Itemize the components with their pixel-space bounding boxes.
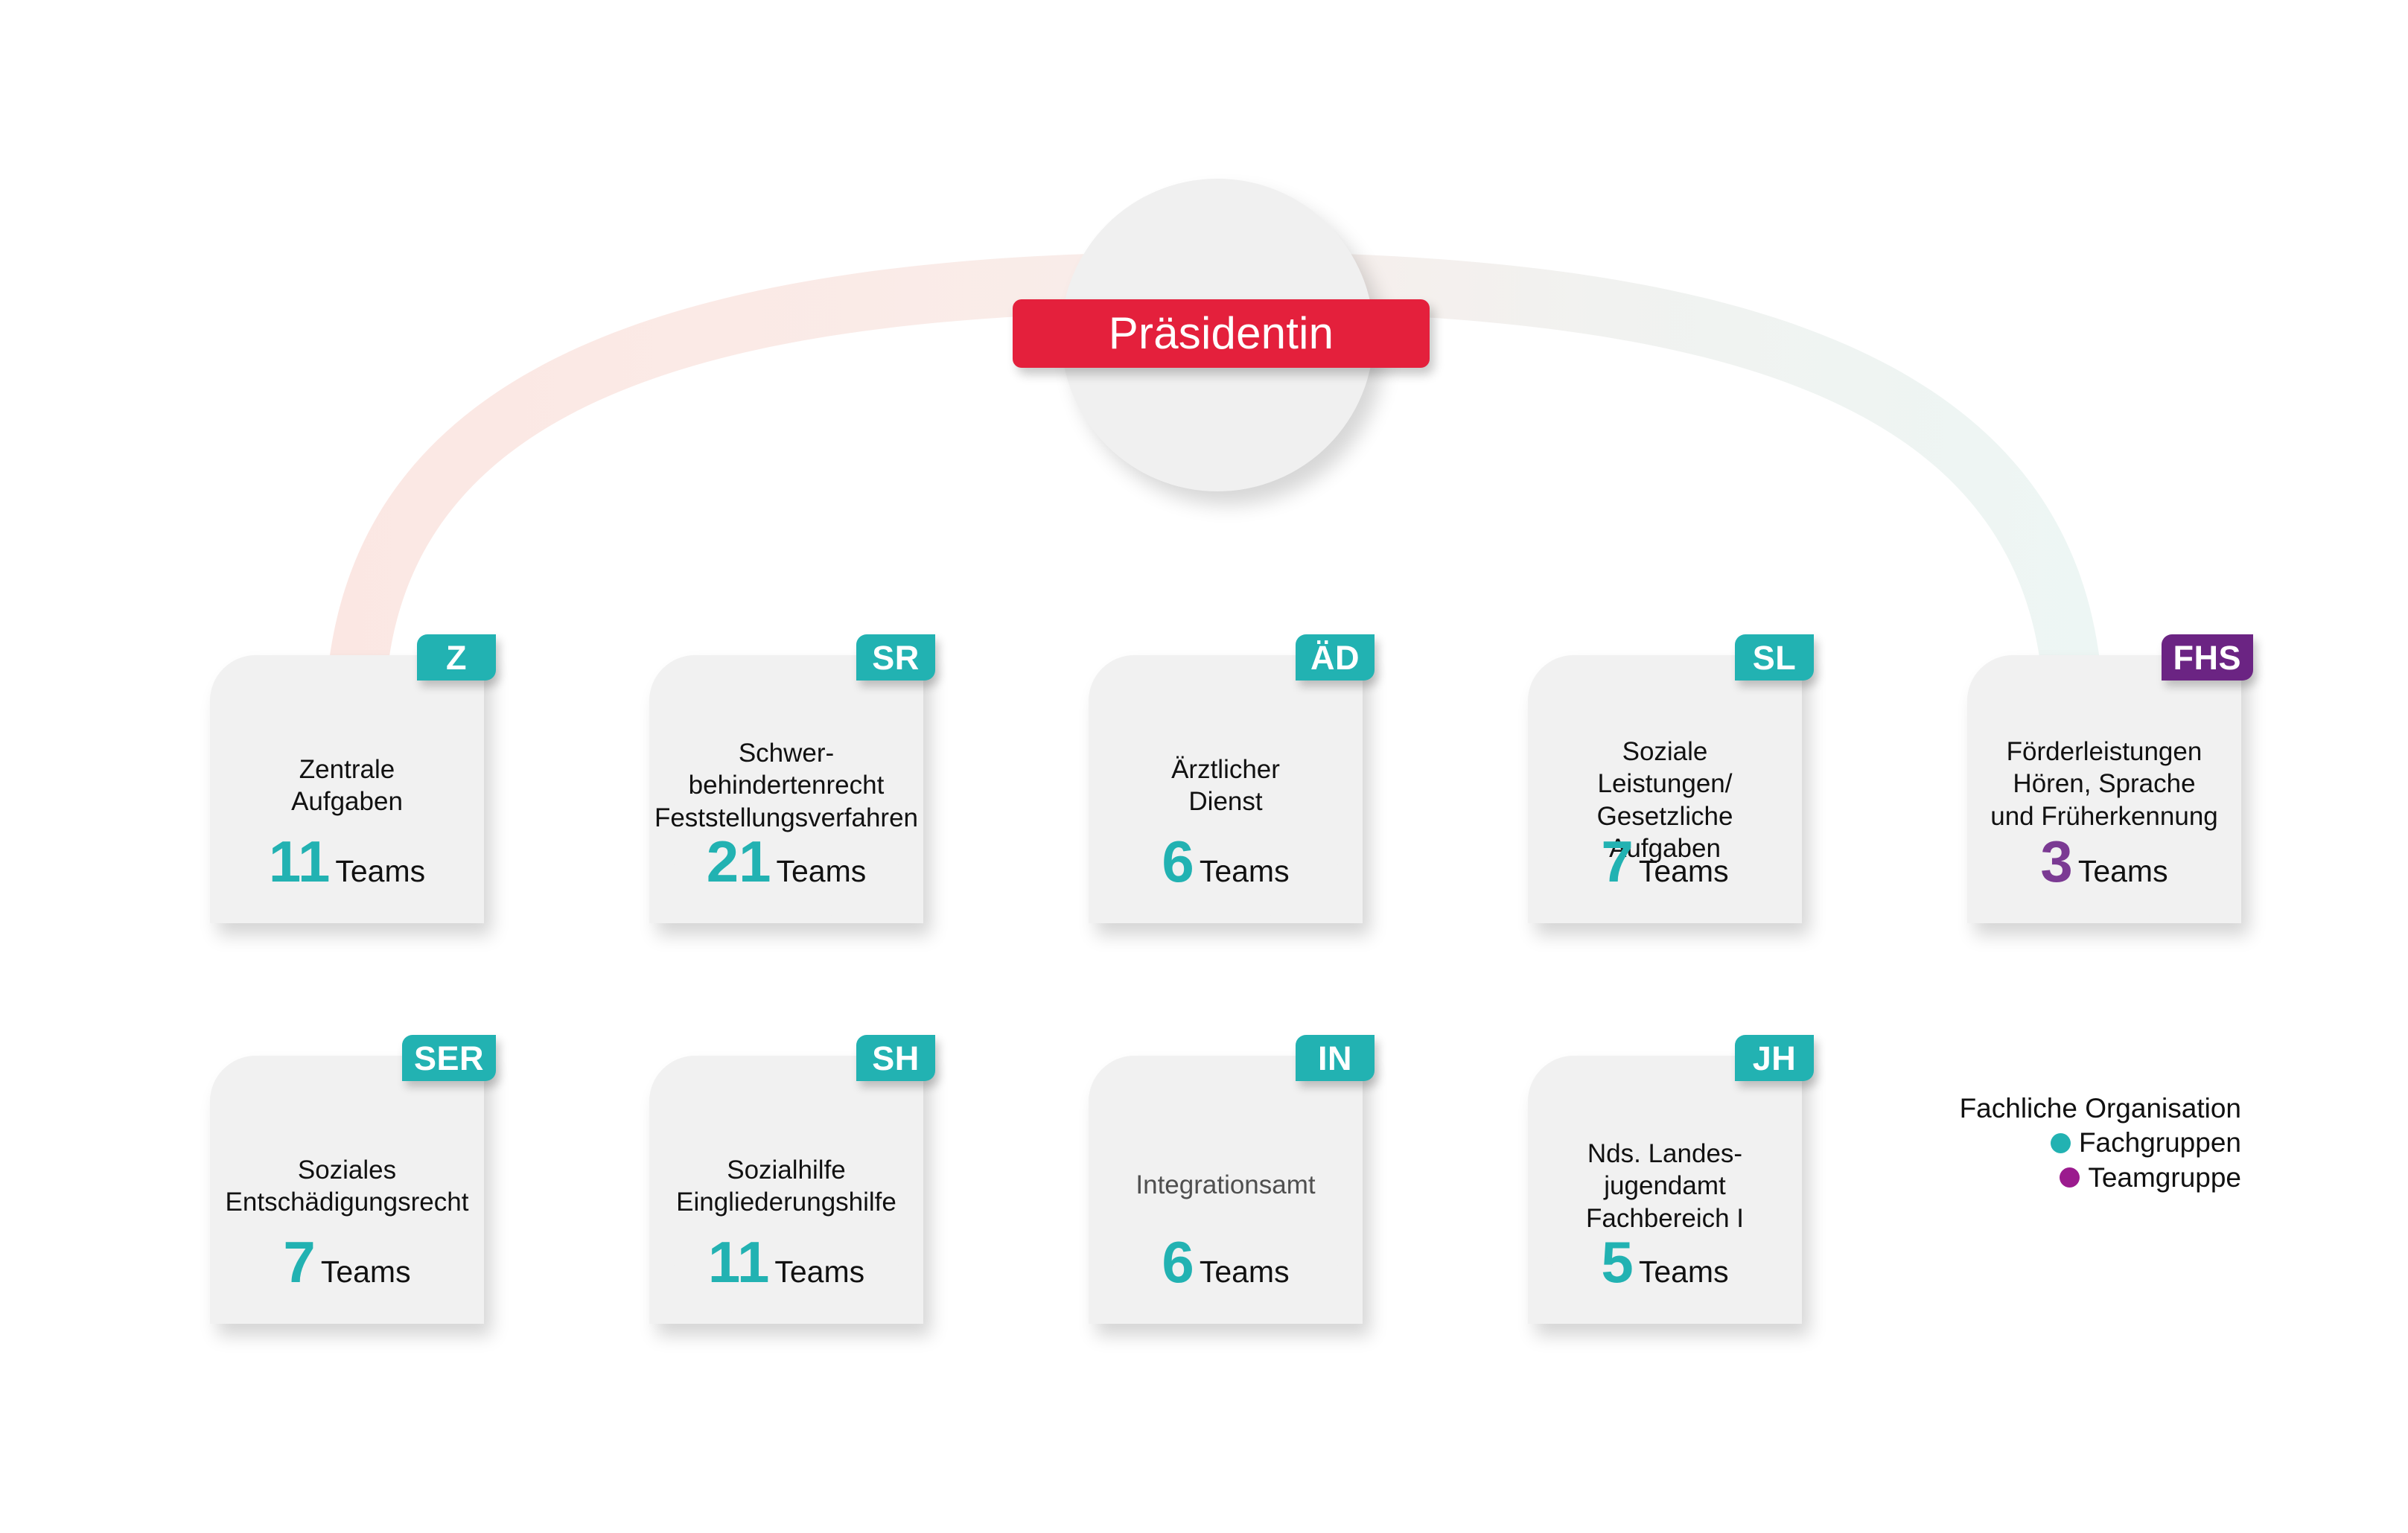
unit-badge-ser[interactable]: SER [402,1035,496,1081]
unit-card-ser[interactable]: Soziales Entschädigungsrecht7TeamsSER [210,1056,484,1324]
unit-card-body: Soziale Leistungen/ Gesetzliche Aufgaben… [1528,655,1802,923]
unit-title: Förderleistungen Hören, Sprache und Früh… [1949,736,2259,832]
unit-badge-label: SL [1753,641,1797,675]
unit-team-count-word: Teams [1200,1257,1290,1287]
unit-card-body: Soziales Entschädigungsrecht7TeamsSER [210,1056,484,1324]
unit-badge-label: IN [1318,1042,1352,1075]
unit-badge-sl[interactable]: SL [1735,634,1814,681]
unit-team-count-number: 7 [283,1233,315,1291]
legend-dot-magenta-icon [2060,1167,2080,1188]
unit-team-count: 11Teams [649,1233,923,1291]
unit-badge-z[interactable]: Z [417,634,496,681]
president-label-text: Präsidentin [1109,311,1334,356]
unit-card-body: Sozialhilfe Eingliederungshilfe11TeamsSH [649,1056,923,1324]
unit-badge-d[interactable]: ÄD [1296,634,1375,681]
unit-badge-sh[interactable]: SH [856,1035,935,1081]
unit-team-count: 3Teams [1967,832,2241,890]
org-chart-canvas: Präsidentin Zentrale Aufgaben11TeamsZSch… [0,0,2408,1533]
unit-team-count-word: Teams [1639,1257,1729,1287]
unit-card-jh[interactable]: Nds. Landes- jugendamt Fachbereich I5Tea… [1528,1056,1802,1324]
unit-badge-jh[interactable]: JH [1735,1035,1814,1081]
unit-team-count-word: Teams [774,1257,864,1287]
unit-team-count-number: 5 [1601,1233,1633,1291]
legend-label-teamgruppe: Teamgruppe [2088,1162,2241,1193]
legend-dot-teal-icon [2051,1133,2071,1153]
unit-team-count-word: Teams [1639,856,1729,887]
unit-team-count-number: 6 [1162,1233,1194,1291]
unit-team-count-word: Teams [335,856,425,887]
unit-badge-fhs[interactable]: FHS [2162,634,2254,681]
unit-title: Ärztlicher Dienst [1071,753,1380,818]
unit-team-count: 21Teams [649,832,923,890]
unit-card-d[interactable]: Ärztlicher Dienst6TeamsÄD [1089,655,1363,923]
unit-card-body: Integrationsamt6TeamsIN [1089,1056,1363,1324]
unit-badge-sr[interactable]: SR [856,634,935,681]
unit-team-count-word: Teams [1200,856,1290,887]
unit-badge-label: ÄD [1310,641,1360,675]
unit-team-count-number: 6 [1162,832,1194,890]
unit-team-count-number: 11 [269,832,330,890]
legend: Fachliche Organisation Fachgruppen Teamg… [1854,1093,2241,1193]
unit-card-body: Schwer- behindertenrecht Feststellungsve… [649,655,923,923]
unit-team-count-word: Teams [321,1257,411,1287]
president-label[interactable]: Präsidentin [1013,299,1430,368]
unit-team-count: 6Teams [1089,832,1363,890]
unit-title: Soziales Entschädigungsrecht [192,1154,502,1219]
unit-card-body: Nds. Landes- jugendamt Fachbereich I5Tea… [1528,1056,1802,1324]
legend-item-fachgruppen: Fachgruppen [1854,1127,2241,1158]
unit-card-in[interactable]: Integrationsamt6TeamsIN [1089,1056,1363,1324]
unit-card-z[interactable]: Zentrale Aufgaben11TeamsZ [210,655,484,923]
unit-badge-label: FHS [2173,641,2242,675]
unit-card-fhs[interactable]: Förderleistungen Hören, Sprache und Früh… [1967,655,2241,923]
unit-team-count-number: 7 [1601,832,1633,890]
unit-card-sl[interactable]: Soziale Leistungen/ Gesetzliche Aufgaben… [1528,655,1802,923]
legend-item-teamgruppe: Teamgruppe [1854,1162,2241,1193]
unit-card-body: Ärztlicher Dienst6TeamsÄD [1089,655,1363,923]
unit-team-count: 11Teams [210,832,484,890]
unit-team-count-number: 11 [708,1233,769,1291]
president-node[interactable]: Präsidentin [1061,179,1374,491]
unit-title: Sozialhilfe Eingliederungshilfe [631,1154,941,1219]
unit-card-body: Zentrale Aufgaben11TeamsZ [210,655,484,923]
unit-team-count-word: Teams [2078,856,2168,887]
unit-team-count-number: 3 [2040,832,2072,890]
unit-team-count: 5Teams [1528,1233,1802,1291]
unit-team-count: 7Teams [210,1233,484,1291]
legend-title: Fachliche Organisation [1854,1093,2241,1124]
unit-title: Integrationsamt [1071,1169,1380,1201]
unit-badge-label: SR [872,641,920,675]
legend-label-fachgruppen: Fachgruppen [2079,1127,2241,1158]
unit-team-count: 7Teams [1528,832,1802,890]
unit-team-count-word: Teams [777,856,867,887]
unit-title: Nds. Landes- jugendamt Fachbereich I [1510,1138,1820,1234]
unit-badge-in[interactable]: IN [1296,1035,1375,1081]
unit-card-sr[interactable]: Schwer- behindertenrecht Feststellungsve… [649,655,923,923]
unit-team-count: 6Teams [1089,1233,1363,1291]
unit-card-sh[interactable]: Sozialhilfe Eingliederungshilfe11TeamsSH [649,1056,923,1324]
unit-badge-label: JH [1753,1042,1797,1075]
unit-title: Zentrale Aufgaben [192,753,502,818]
unit-team-count-number: 21 [707,832,771,890]
unit-title: Schwer- behindertenrecht Feststellungsve… [631,737,941,834]
unit-badge-label: SH [872,1042,920,1075]
unit-card-body: Förderleistungen Hören, Sprache und Früh… [1967,655,2241,923]
unit-badge-label: SER [414,1042,484,1075]
unit-badge-label: Z [446,641,467,675]
